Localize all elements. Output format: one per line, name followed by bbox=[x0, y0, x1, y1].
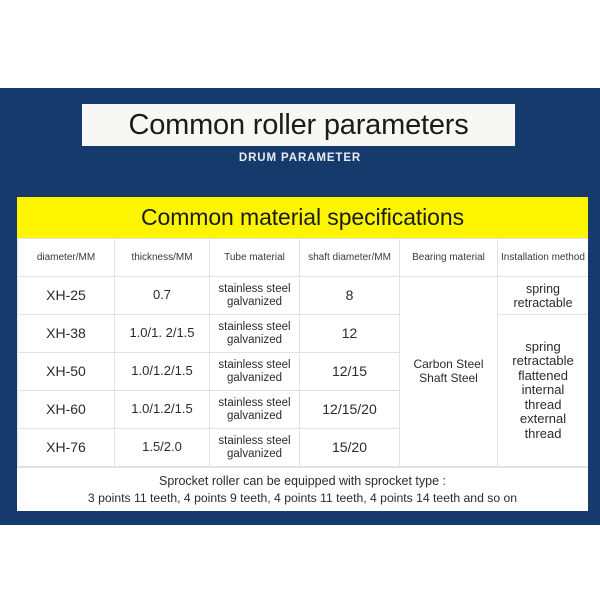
spec-table: diameter/MM thickness/MM Tube material s… bbox=[17, 238, 588, 467]
cell-installation-method-merged: spring retractable flattened internal th… bbox=[498, 315, 589, 467]
cell-tube-material: stainless steel galvanized bbox=[210, 315, 300, 353]
column-header-shaft-diameter: shaft diameter/MM bbox=[300, 239, 400, 277]
installation-merged-line-3: internal bbox=[522, 382, 565, 397]
bearing-material-line-1: Carbon Steel bbox=[413, 357, 483, 371]
cell-thickness: 1.0/1.2/1.5 bbox=[115, 391, 210, 429]
spec-table-card: diameter/MM thickness/MM Tube material s… bbox=[17, 238, 588, 511]
column-header-thickness: thickness/MM bbox=[115, 239, 210, 277]
cell-tube-material: stainless steel galvanized bbox=[210, 277, 300, 315]
cell-tube-material: stainless steel galvanized bbox=[210, 353, 300, 391]
table-header-row: diameter/MM thickness/MM Tube material s… bbox=[18, 239, 589, 277]
footer-note: Sprocket roller can be equipped with spr… bbox=[17, 467, 588, 510]
column-header-installation-method: Installation method bbox=[498, 239, 589, 277]
installation-line-1: spring bbox=[526, 282, 560, 296]
column-header-bearing-material: Bearing material bbox=[400, 239, 498, 277]
bearing-material-line-2: Shaft Steel bbox=[419, 371, 478, 385]
cell-diameter: XH-38 bbox=[18, 315, 115, 353]
cell-thickness: 1.0/1. 2/1.5 bbox=[115, 315, 210, 353]
table-row: XH-25 0.7 stainless steel galvanized 8 C… bbox=[18, 277, 589, 315]
cell-thickness: 1.0/1.2/1.5 bbox=[115, 353, 210, 391]
cell-shaft-diameter: 12/15/20 bbox=[300, 391, 400, 429]
cell-shaft-diameter: 8 bbox=[300, 277, 400, 315]
installation-merged-line-0: spring bbox=[525, 339, 560, 354]
installation-merged-line-6: thread bbox=[525, 426, 562, 441]
cell-shaft-diameter: 12/15 bbox=[300, 353, 400, 391]
cell-diameter: XH-76 bbox=[18, 429, 115, 467]
cell-shaft-diameter: 12 bbox=[300, 315, 400, 353]
banner-title: Common material specifications bbox=[141, 204, 464, 231]
poster-panel: Common roller parameters DRUM PARAMETER … bbox=[0, 88, 600, 525]
cell-tube-material: stainless steel galvanized bbox=[210, 429, 300, 467]
cell-installation-method: spring retractable bbox=[498, 277, 589, 315]
installation-merged-line-2: flattened bbox=[518, 368, 568, 383]
cell-shaft-diameter: 15/20 bbox=[300, 429, 400, 467]
footer-line-2: 3 points 11 teeth, 4 points 9 teeth, 4 p… bbox=[21, 490, 584, 508]
installation-merged-line-1: retractable bbox=[512, 353, 573, 368]
cell-thickness: 1.5/2.0 bbox=[115, 429, 210, 467]
installation-merged-line-4: thread bbox=[525, 397, 562, 412]
yellow-banner: Common material specifications bbox=[17, 197, 588, 238]
page-title: Common roller parameters bbox=[128, 109, 468, 142]
column-header-diameter: diameter/MM bbox=[18, 239, 115, 277]
column-header-tube-material: Tube material bbox=[210, 239, 300, 277]
cell-diameter: XH-25 bbox=[18, 277, 115, 315]
cell-thickness: 0.7 bbox=[115, 277, 210, 315]
footer-line-1: Sprocket roller can be equipped with spr… bbox=[21, 472, 584, 490]
installation-merged-line-5: external bbox=[520, 411, 566, 426]
table-row: XH-38 1.0/1. 2/1.5 stainless steel galva… bbox=[18, 315, 589, 353]
cell-tube-material: stainless steel galvanized bbox=[210, 391, 300, 429]
subtitle: DRUM PARAMETER bbox=[0, 152, 600, 164]
installation-line-2: retractable bbox=[513, 296, 572, 310]
cell-bearing-material-merged: Carbon Steel Shaft Steel bbox=[400, 277, 498, 467]
cell-diameter: XH-60 bbox=[18, 391, 115, 429]
title-box: Common roller parameters bbox=[82, 104, 515, 146]
cell-diameter: XH-50 bbox=[18, 353, 115, 391]
